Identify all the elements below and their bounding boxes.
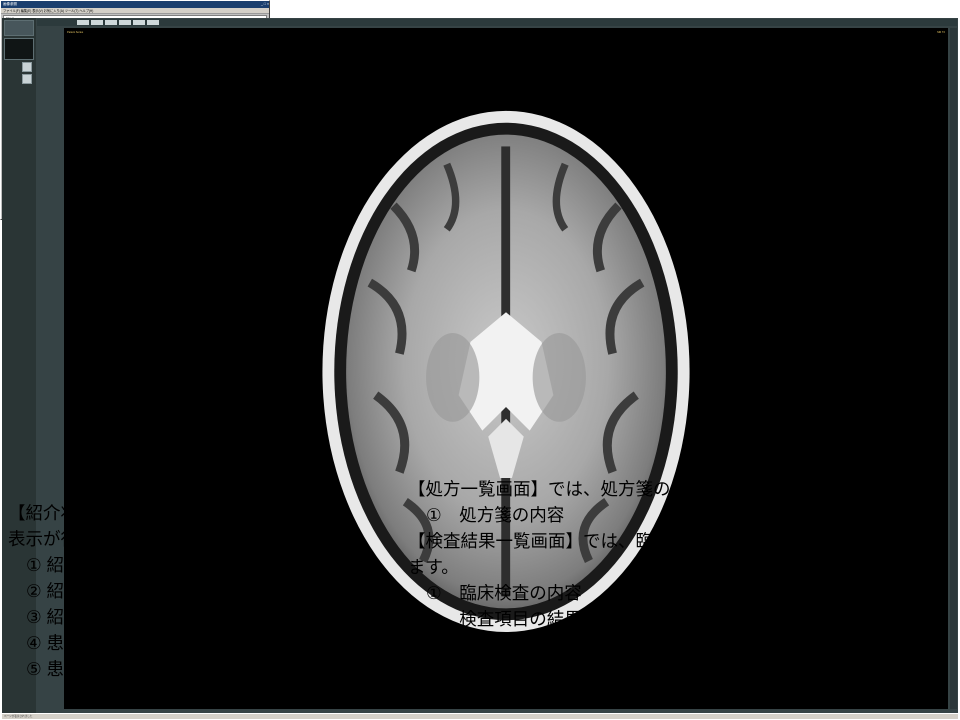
description-list-item: ⑤ 患者の診療情報など紹介状の内容 [8, 656, 408, 682]
dicom-window-title: 画像参照 [3, 1, 17, 8]
dicom-menubar[interactable]: ファイル(F) 編集(E) 表示(V) お気に入り(A) ツール(T) ヘルプ(… [1, 8, 269, 14]
dicom-statusbar: ページが表示されました [2, 714, 958, 719]
description-line: 【画像参照画面】では、放射線検査の内容の表示が行えま [408, 632, 956, 658]
toolbar-icon[interactable] [147, 20, 159, 25]
dicom-toolbar[interactable] [37, 19, 957, 26]
dicom-window-controls[interactable]: _ □ × [261, 1, 269, 8]
description-line: す。 [408, 658, 956, 684]
dicom-overlay-top-left: Patient Series [67, 31, 83, 35]
description-list-item: ③ 紹介元の情報。 [8, 604, 408, 630]
description-list-item: ① 臨床検査の内容 [408, 580, 956, 606]
description-list-item: ② 紹介先の情報。 [8, 578, 408, 604]
description-left: 【紹介状表示画面】では、以下紹介内容の表示が行えます。① 紹介状を作成した年月日… [8, 500, 408, 682]
toolbar-icon[interactable] [119, 20, 131, 25]
image-viewer-window[interactable]: 画像参照 _ □ × ファイル(F) 編集(E) 表示(V) お気に入り(A) … [0, 0, 270, 220]
toolbar-icon[interactable] [77, 20, 89, 25]
toolbar-icon[interactable] [133, 20, 145, 25]
description-list-item: ② 検査項目の結果値がグラフ表示可能。 [408, 606, 956, 632]
toolbar-icon[interactable] [91, 20, 103, 25]
dicom-panel-item[interactable] [4, 20, 34, 36]
description-line: 【紹介状表示画面】では、以下紹介内容の [8, 500, 408, 526]
dicom-overlay-top-right: MR T2 [937, 31, 945, 35]
description-line: 表示が行えます。 [8, 526, 408, 552]
dicom-titlebar[interactable]: 画像参照 _ □ × [1, 1, 269, 8]
description-list-item: ① 処方箋の内容 [408, 502, 956, 528]
description-right: 【処方一覧画面】では、処方箋の内容の表示が行えます。① 処方箋の内容【検査結果一… [408, 476, 956, 710]
toolbar-icon[interactable] [105, 20, 117, 25]
slide-root: . 診療情報提供システム 紹介状ビューワ 紹介状出力イメージ例 処方履歴, 検査… [0, 0, 960, 720]
dicom-thumbnail[interactable] [4, 38, 34, 60]
dicom-tool-icon[interactable] [22, 62, 32, 72]
description-list-item: ① 撮影内容 [408, 684, 956, 710]
description-line: ます。 [408, 554, 956, 580]
description-list-item: ① 紹介状を作成した年月日。 [8, 552, 408, 578]
description-list-item: ④ 患者の基本情報 [8, 630, 408, 656]
dicom-tool-icon[interactable] [22, 74, 32, 84]
description-line: 【検査結果一覧画面】では、臨床検査の内容の表示が行え [408, 528, 956, 554]
description-line: 【処方一覧画面】では、処方箋の内容の表示が行えます。 [408, 476, 956, 502]
